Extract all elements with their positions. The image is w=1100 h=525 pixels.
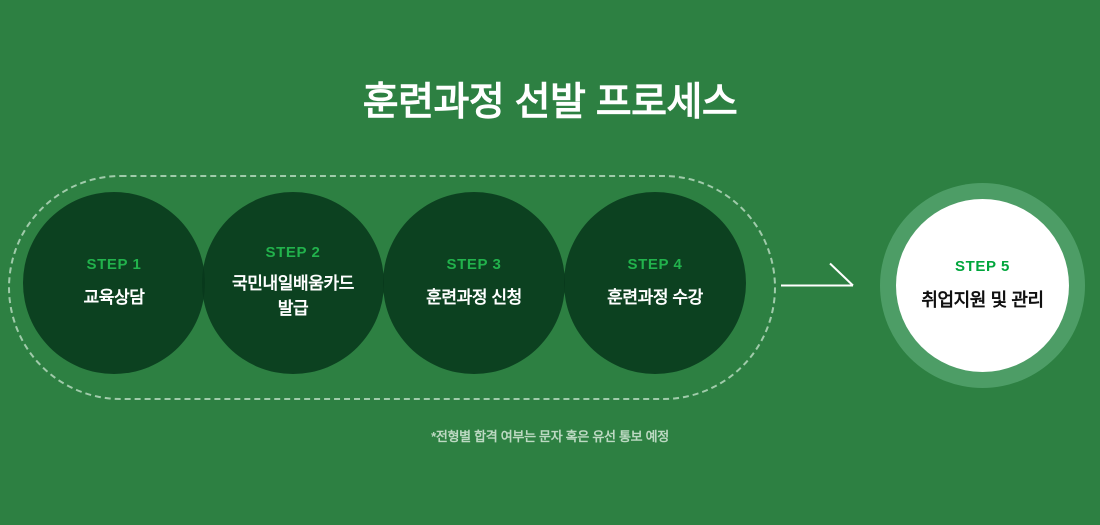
- step-circle-3[interactable]: STEP 3 훈련과정 신청: [383, 192, 565, 374]
- step-5-content: STEP 5 취업지원 및 관리: [896, 199, 1069, 372]
- page-title: 훈련과정 선발 프로세스: [0, 82, 1100, 125]
- step-5-label: STEP 5: [955, 258, 1010, 275]
- step-circle-5[interactable]: STEP 5 취업지원 및 관리: [880, 183, 1085, 388]
- step-circle-2[interactable]: STEP 2 국민내일배움카드 발급: [202, 192, 384, 374]
- step-circle-4[interactable]: STEP 4 훈련과정 수강: [564, 192, 746, 374]
- process-diagram: 훈련과정 선발 프로세스 STEP 1 교육상담 STEP 2 국민내일배움카드…: [0, 0, 1100, 525]
- step-2-name-line-1: 국민내일배움카드: [232, 274, 354, 293]
- step-4-label: STEP 4: [627, 256, 682, 273]
- step-3-name: 훈련과정 신청: [426, 286, 522, 311]
- step-5-name: 취업지원 및 관리: [921, 287, 1043, 313]
- step-4-name: 훈련과정 수강: [607, 286, 703, 311]
- step-1-label: STEP 1: [86, 256, 141, 273]
- step-3-label: STEP 3: [446, 256, 501, 273]
- step-2-name-line-2: 발급: [278, 299, 308, 318]
- step-2-label: STEP 2: [265, 244, 320, 261]
- step-circle-1[interactable]: STEP 1 교육상담: [23, 192, 205, 374]
- step-2-name: 국민내일배움카드 발급: [232, 272, 354, 321]
- footnote-text: *전형별 합격 여부는 문자 혹은 유선 통보 예정: [0, 426, 1100, 445]
- step-1-name: 교육상담: [84, 286, 145, 311]
- arrow-right-icon: [780, 262, 858, 308]
